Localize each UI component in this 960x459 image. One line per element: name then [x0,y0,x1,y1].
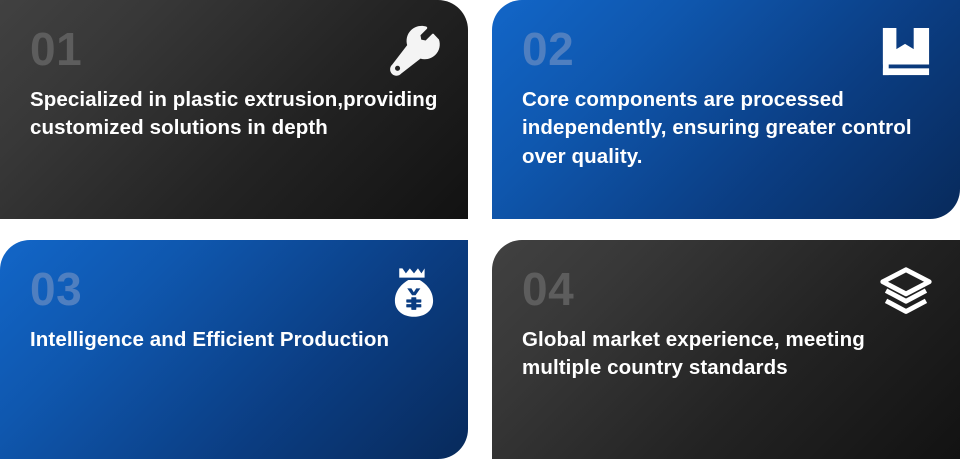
card-number-01: 01 [30,26,438,72]
card-text-04: Global market experience, meeting multip… [522,326,930,383]
feature-card-grid: 01 Specialized in plastic extrusion,prov… [0,0,960,459]
card-number-03: 03 [30,266,438,312]
card-text-03: Intelligence and Efficient Production [30,326,438,354]
feature-card-03[interactable]: 03 Intelligence and Efficient Production [0,240,468,459]
layers-stack-icon [878,264,934,320]
book-bookmark-icon [878,24,934,80]
feature-card-02[interactable]: 02 Core components are processed indepen… [492,0,960,219]
feature-card-01[interactable]: 01 Specialized in plastic extrusion,prov… [0,0,468,219]
feature-card-04[interactable]: 04 Global market experience, meeting mul… [492,240,960,459]
card-text-01: Specialized in plastic extrusion,providi… [30,86,438,143]
money-bag-yen-icon [386,264,442,320]
card-text-02: Core components are processed independen… [522,86,930,171]
card-number-04: 04 [522,266,930,312]
wrench-icon [386,24,442,80]
card-number-02: 02 [522,26,930,72]
